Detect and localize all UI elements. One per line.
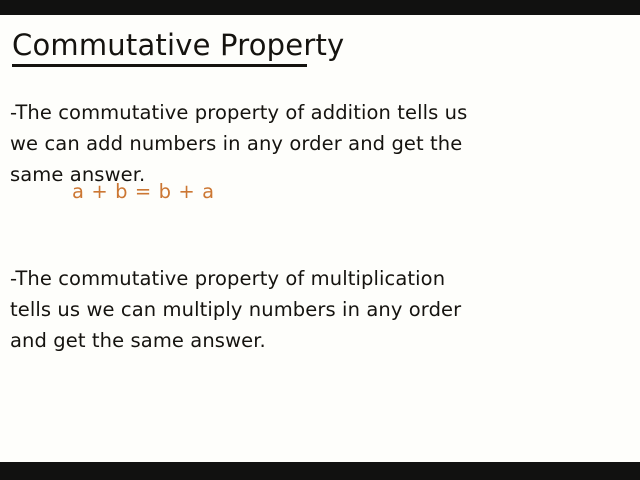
title-underline <box>12 64 307 67</box>
video-frame: Commutative Property -The commutative pr… <box>0 0 640 480</box>
page-title: Commutative Property <box>12 28 452 62</box>
slide-canvas: Commutative Property -The commutative pr… <box>0 15 640 462</box>
title-block: Commutative Property <box>12 28 452 67</box>
letterbox-bottom-bar <box>0 462 640 480</box>
commutative-addition-equation: a + b = b + a <box>72 180 215 203</box>
addition-paragraph: -The commutative property of addition te… <box>10 97 490 190</box>
multiplication-paragraph: -The commutative property of multiplicat… <box>10 263 490 356</box>
letterbox-top-bar <box>0 0 640 15</box>
